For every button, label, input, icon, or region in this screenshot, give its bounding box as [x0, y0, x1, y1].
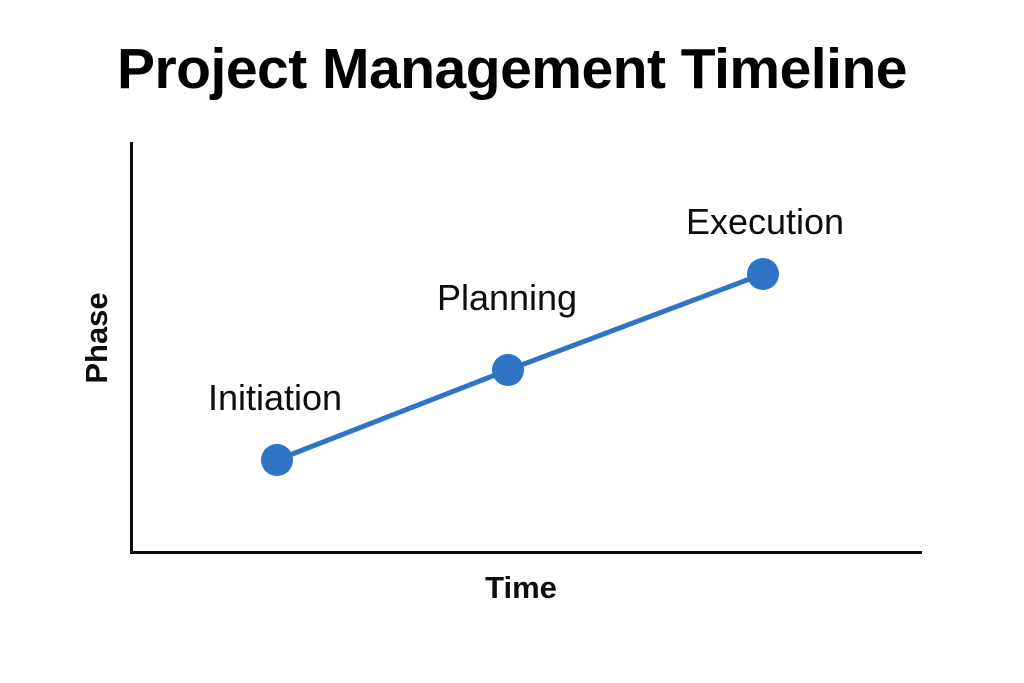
chart-title: Project Management Timeline: [0, 40, 1024, 100]
y-axis-title: Phase: [79, 292, 115, 383]
x-axis-title: Time: [485, 570, 557, 606]
data-point-label-execution: Execution: [686, 204, 844, 240]
data-point-label-planning: Planning: [437, 280, 577, 316]
data-point-marker-initiation[interactable]: [261, 444, 293, 476]
data-point-marker-planning[interactable]: [492, 354, 524, 386]
chart-container: Project Management Timeline Phase Time I…: [0, 0, 1024, 683]
data-point-marker-execution[interactable]: [747, 258, 779, 290]
data-point-label-initiation: Initiation: [208, 380, 342, 416]
x-axis-line: [130, 551, 922, 554]
y-axis-line: [130, 142, 133, 554]
